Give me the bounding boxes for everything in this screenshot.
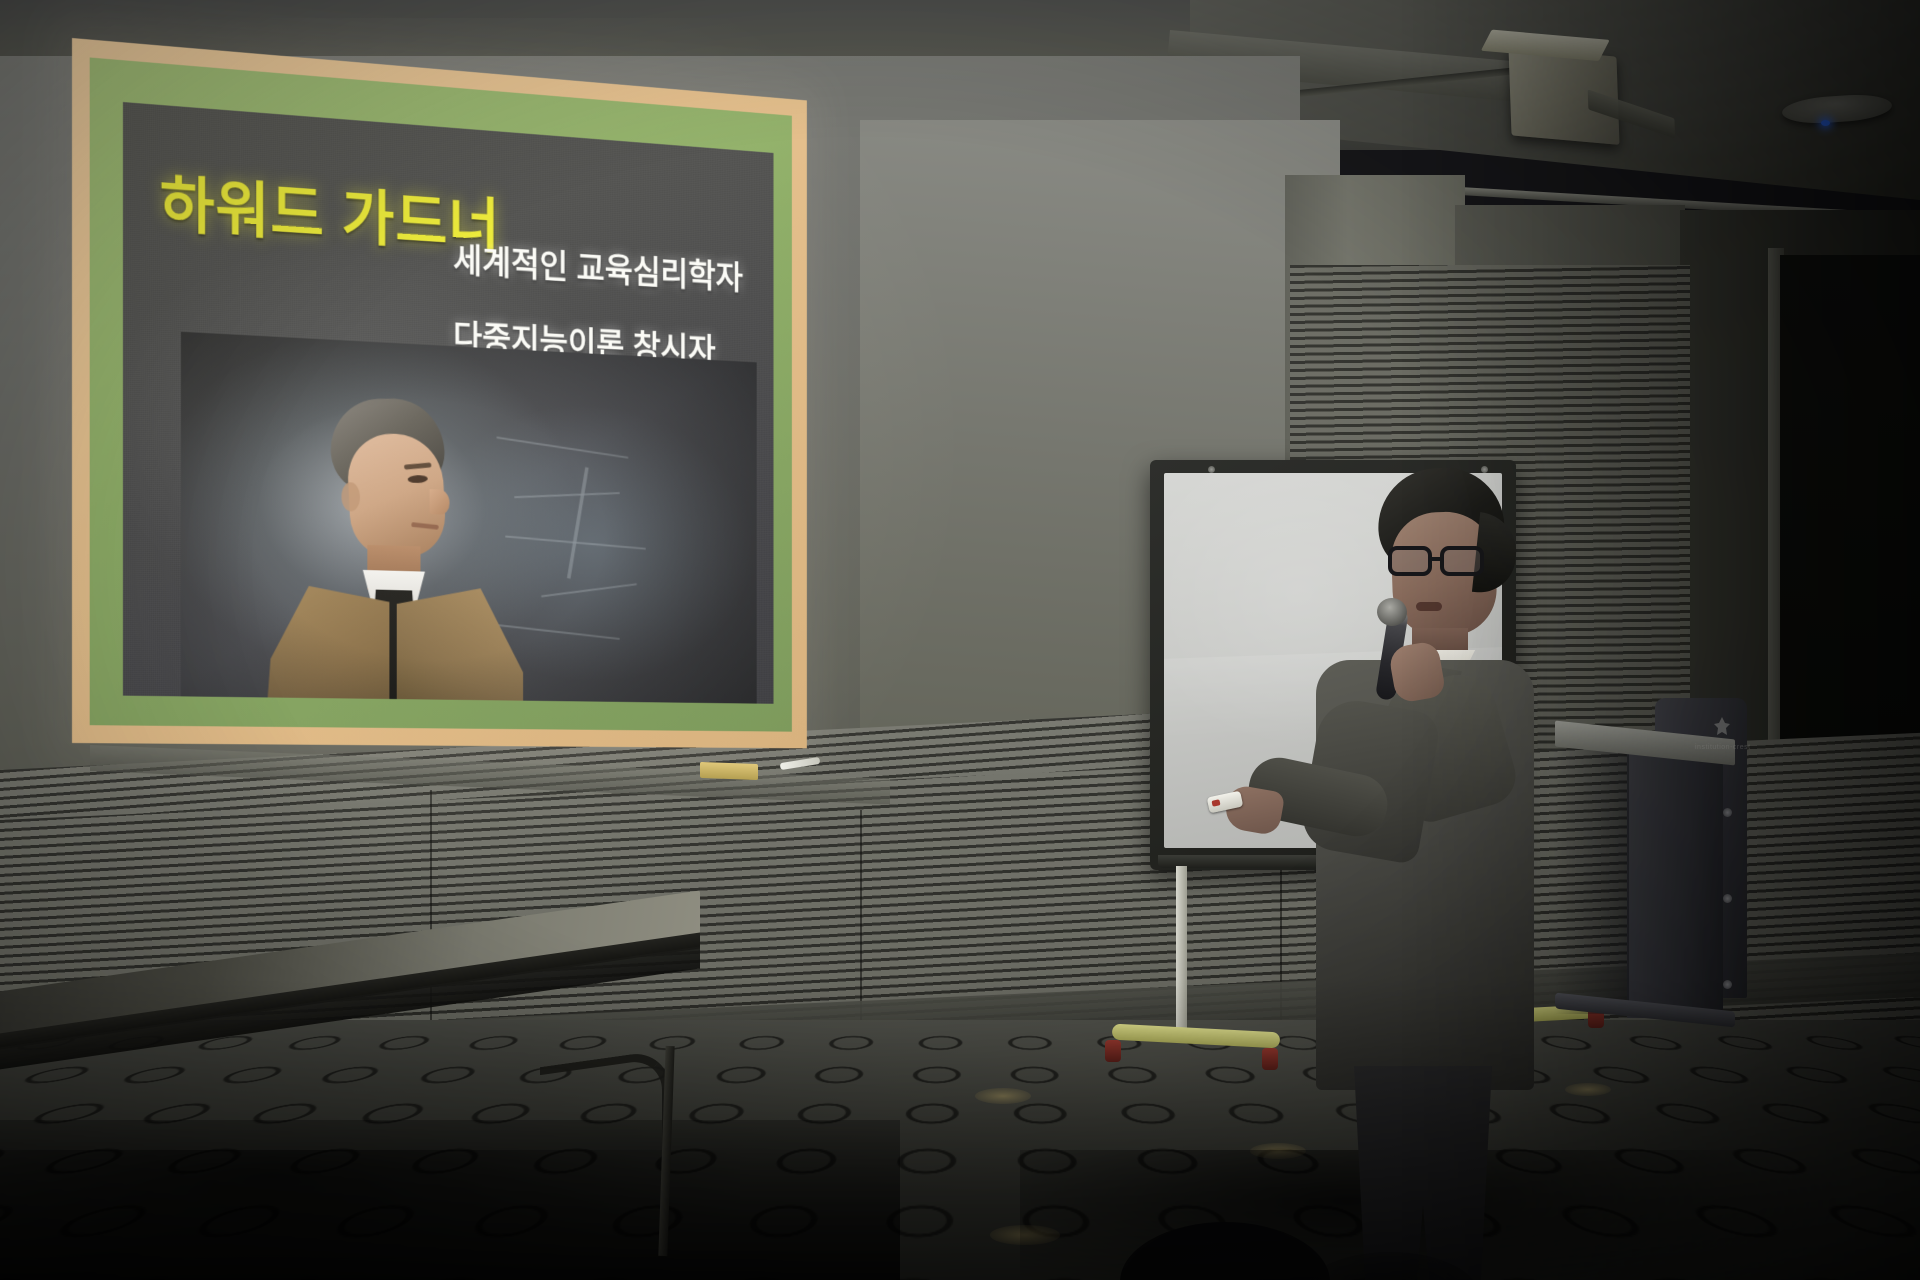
yellow-eraser-icon[interactable] bbox=[700, 762, 758, 780]
lectern-body bbox=[1627, 748, 1723, 1018]
smoke-detector-led-icon bbox=[1821, 120, 1830, 126]
lectern-fastener bbox=[1723, 980, 1732, 989]
slide-mat-border: 하워드 가드너 세계적인 교육심리학자 다중지능이론 창시자 bbox=[90, 57, 792, 731]
presenter bbox=[1300, 468, 1550, 1228]
carpet-accent-oval bbox=[1565, 1083, 1611, 1096]
slide-portrait-photo: 이미지 제공 bbox=[181, 332, 757, 704]
lectern-fastener bbox=[1723, 808, 1732, 817]
glasses-icon bbox=[1388, 546, 1500, 576]
table-leg-frame bbox=[540, 1049, 670, 1177]
slide-title: 하워드 가드너 bbox=[160, 154, 501, 265]
ceiling-speaker-icon bbox=[1508, 47, 1619, 145]
caster-wheel-icon bbox=[1262, 1048, 1278, 1070]
portrait-vignette bbox=[181, 332, 757, 704]
carpet-accent-oval bbox=[975, 1088, 1031, 1104]
lecture-hall-scene: 하워드 가드너 세계적인 교육심리학자 다중지능이론 창시자 bbox=[0, 0, 1920, 1280]
folding-table bbox=[0, 1000, 700, 1110]
lectern-side bbox=[1555, 746, 1629, 1014]
slide-content: 하워드 가드너 세계적인 교육심리학자 다중지능이론 창시자 bbox=[123, 102, 774, 704]
table-shadow bbox=[0, 1150, 740, 1280]
lectern-emblem-label: institution-crest bbox=[1695, 744, 1751, 751]
projection-screen: 하워드 가드너 세계적인 교육심리학자 다중지능이론 창시자 bbox=[72, 38, 807, 748]
lectern[interactable]: institution-crest bbox=[1555, 672, 1805, 1072]
lectern-fastener bbox=[1723, 894, 1732, 903]
caster-wheel-icon bbox=[1105, 1040, 1121, 1062]
whiteboard-screw bbox=[1208, 466, 1215, 473]
whiteboard-stand-leg bbox=[1176, 866, 1187, 1036]
slide-subtitle-line-1: 세계적인 교육심리학자 bbox=[453, 233, 743, 299]
glasses-lens-left bbox=[1388, 546, 1432, 576]
glasses-lens-right bbox=[1440, 546, 1484, 576]
institution-crest-icon bbox=[1711, 716, 1733, 742]
glasses-bridge bbox=[1432, 557, 1442, 561]
presenter-mouth bbox=[1416, 602, 1442, 611]
